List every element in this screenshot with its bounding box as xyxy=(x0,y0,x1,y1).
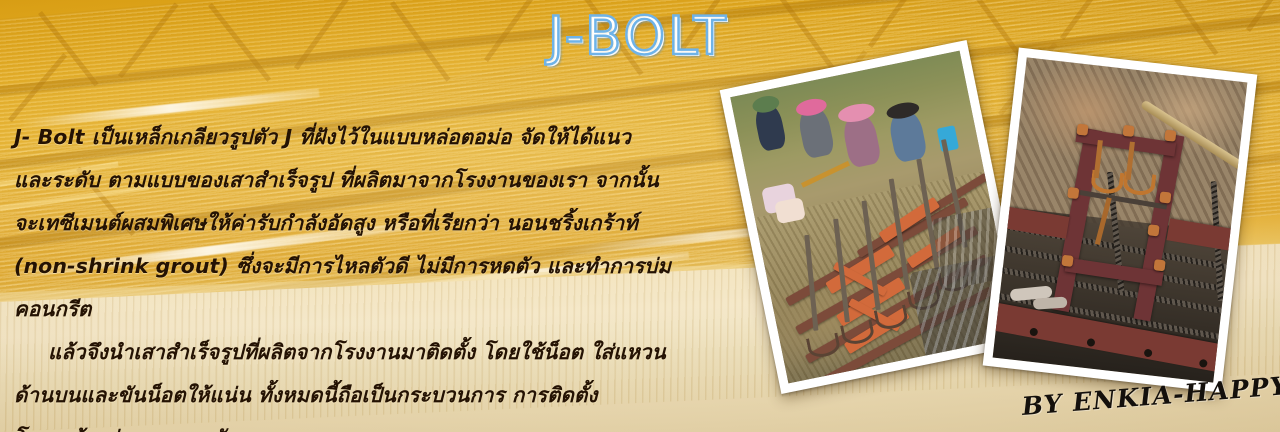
description-line: (non-shrink grout) ซึ่งจะมีการไหลตัวดี ไ… xyxy=(14,247,744,286)
jbolt-banner: J-BOLT J- Bolt เป็นเหล็กเกลียวรูปตัว J ท… xyxy=(0,0,1280,432)
anchor-nut xyxy=(1067,187,1079,199)
description-line: โครงสร้างส่วนของเสากับฐานราก xyxy=(14,419,744,432)
anchor-nut xyxy=(1154,259,1166,271)
photo-1-image xyxy=(730,51,1018,384)
tool-handle xyxy=(801,161,850,188)
description-line: คอนกรีต xyxy=(14,290,744,329)
description-line: ด้านบนและขันน็อตให้แน่น ทั้งหมดนี้ถือเป็… xyxy=(14,376,744,415)
anchor-nut xyxy=(1147,224,1159,236)
photo-2-image xyxy=(993,57,1248,382)
pvc-pipe xyxy=(1033,297,1068,310)
footing-scene xyxy=(993,57,1248,382)
description-block: J- Bolt เป็นเหล็กเกลียวรูปตัว J ที่ฝังไว… xyxy=(14,118,744,432)
photo-jbolt-template-footing xyxy=(983,47,1258,392)
anchor-nut xyxy=(1159,191,1171,203)
page-title: J-BOLT xyxy=(548,6,729,67)
anchor-nut xyxy=(1123,125,1135,137)
anchor-nut xyxy=(1061,255,1073,267)
description-line: แล้วจึงนำเสาสำเร็จรูปที่ผลิตจากโรงงานมาต… xyxy=(14,333,744,372)
anchor-nut xyxy=(1076,124,1088,136)
description-line: J- Bolt เป็นเหล็กเกลียวรูปตัว J ที่ฝังไว… xyxy=(14,118,744,157)
field-scene xyxy=(730,51,1018,384)
anchor-nut xyxy=(1164,130,1176,142)
description-line: จะเทซีเมนต์ผสมพิเศษให้ค่ารับกำลังอัดสูง … xyxy=(14,204,744,243)
description-line: และระดับ ตามแบบของเสาสำเร็จรูป ที่ผลิตมา… xyxy=(14,161,744,200)
